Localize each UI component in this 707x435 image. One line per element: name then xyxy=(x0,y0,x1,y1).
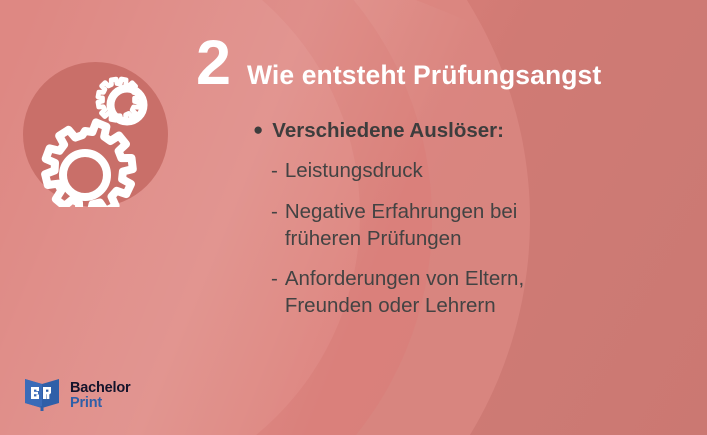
dash-marker-icon: - xyxy=(271,199,278,226)
brand-logo[interactable]: Bachelor Print xyxy=(21,372,130,419)
slide-canvas: 2 Wie entsteht Prüfungsangst ● Verschied… xyxy=(0,0,707,435)
open-book-bp-icon xyxy=(21,372,63,419)
logo-word-print: Print xyxy=(70,396,130,411)
dash-marker-icon: - xyxy=(271,158,278,185)
logo-word-bachelor: Bachelor xyxy=(70,381,130,396)
list-item-label: Leistungsdruck xyxy=(285,158,423,185)
logo-wordmark: Bachelor Print xyxy=(70,381,130,410)
step-number: 2 xyxy=(196,32,230,95)
list-item: - Leistungsdruck xyxy=(253,158,673,185)
list-item: - Anforderungen von Eltern, Freunden ode… xyxy=(253,266,673,320)
list-item: - Negative Erfahrungen bei früheren Prüf… xyxy=(253,199,673,253)
bullet-list: ● Verschiedene Auslöser: - Leistungsdruc… xyxy=(253,118,673,320)
list-item-lead: ● Verschiedene Auslöser: xyxy=(253,118,673,144)
dash-marker-icon: - xyxy=(271,266,278,293)
slide-header: 2 Wie entsteht Prüfungsangst xyxy=(196,32,601,95)
list-item-label: Negative Erfahrungen bei früheren Prüfun… xyxy=(285,199,518,253)
list-item-label: Verschiedene Auslöser: xyxy=(272,118,504,144)
page-title: Wie entsteht Prüfungsangst xyxy=(247,62,601,89)
list-item-label: Anforderungen von Eltern, Freunden oder … xyxy=(285,266,524,320)
bullet-dot-icon: ● xyxy=(253,118,263,143)
gears-icon xyxy=(23,62,168,207)
